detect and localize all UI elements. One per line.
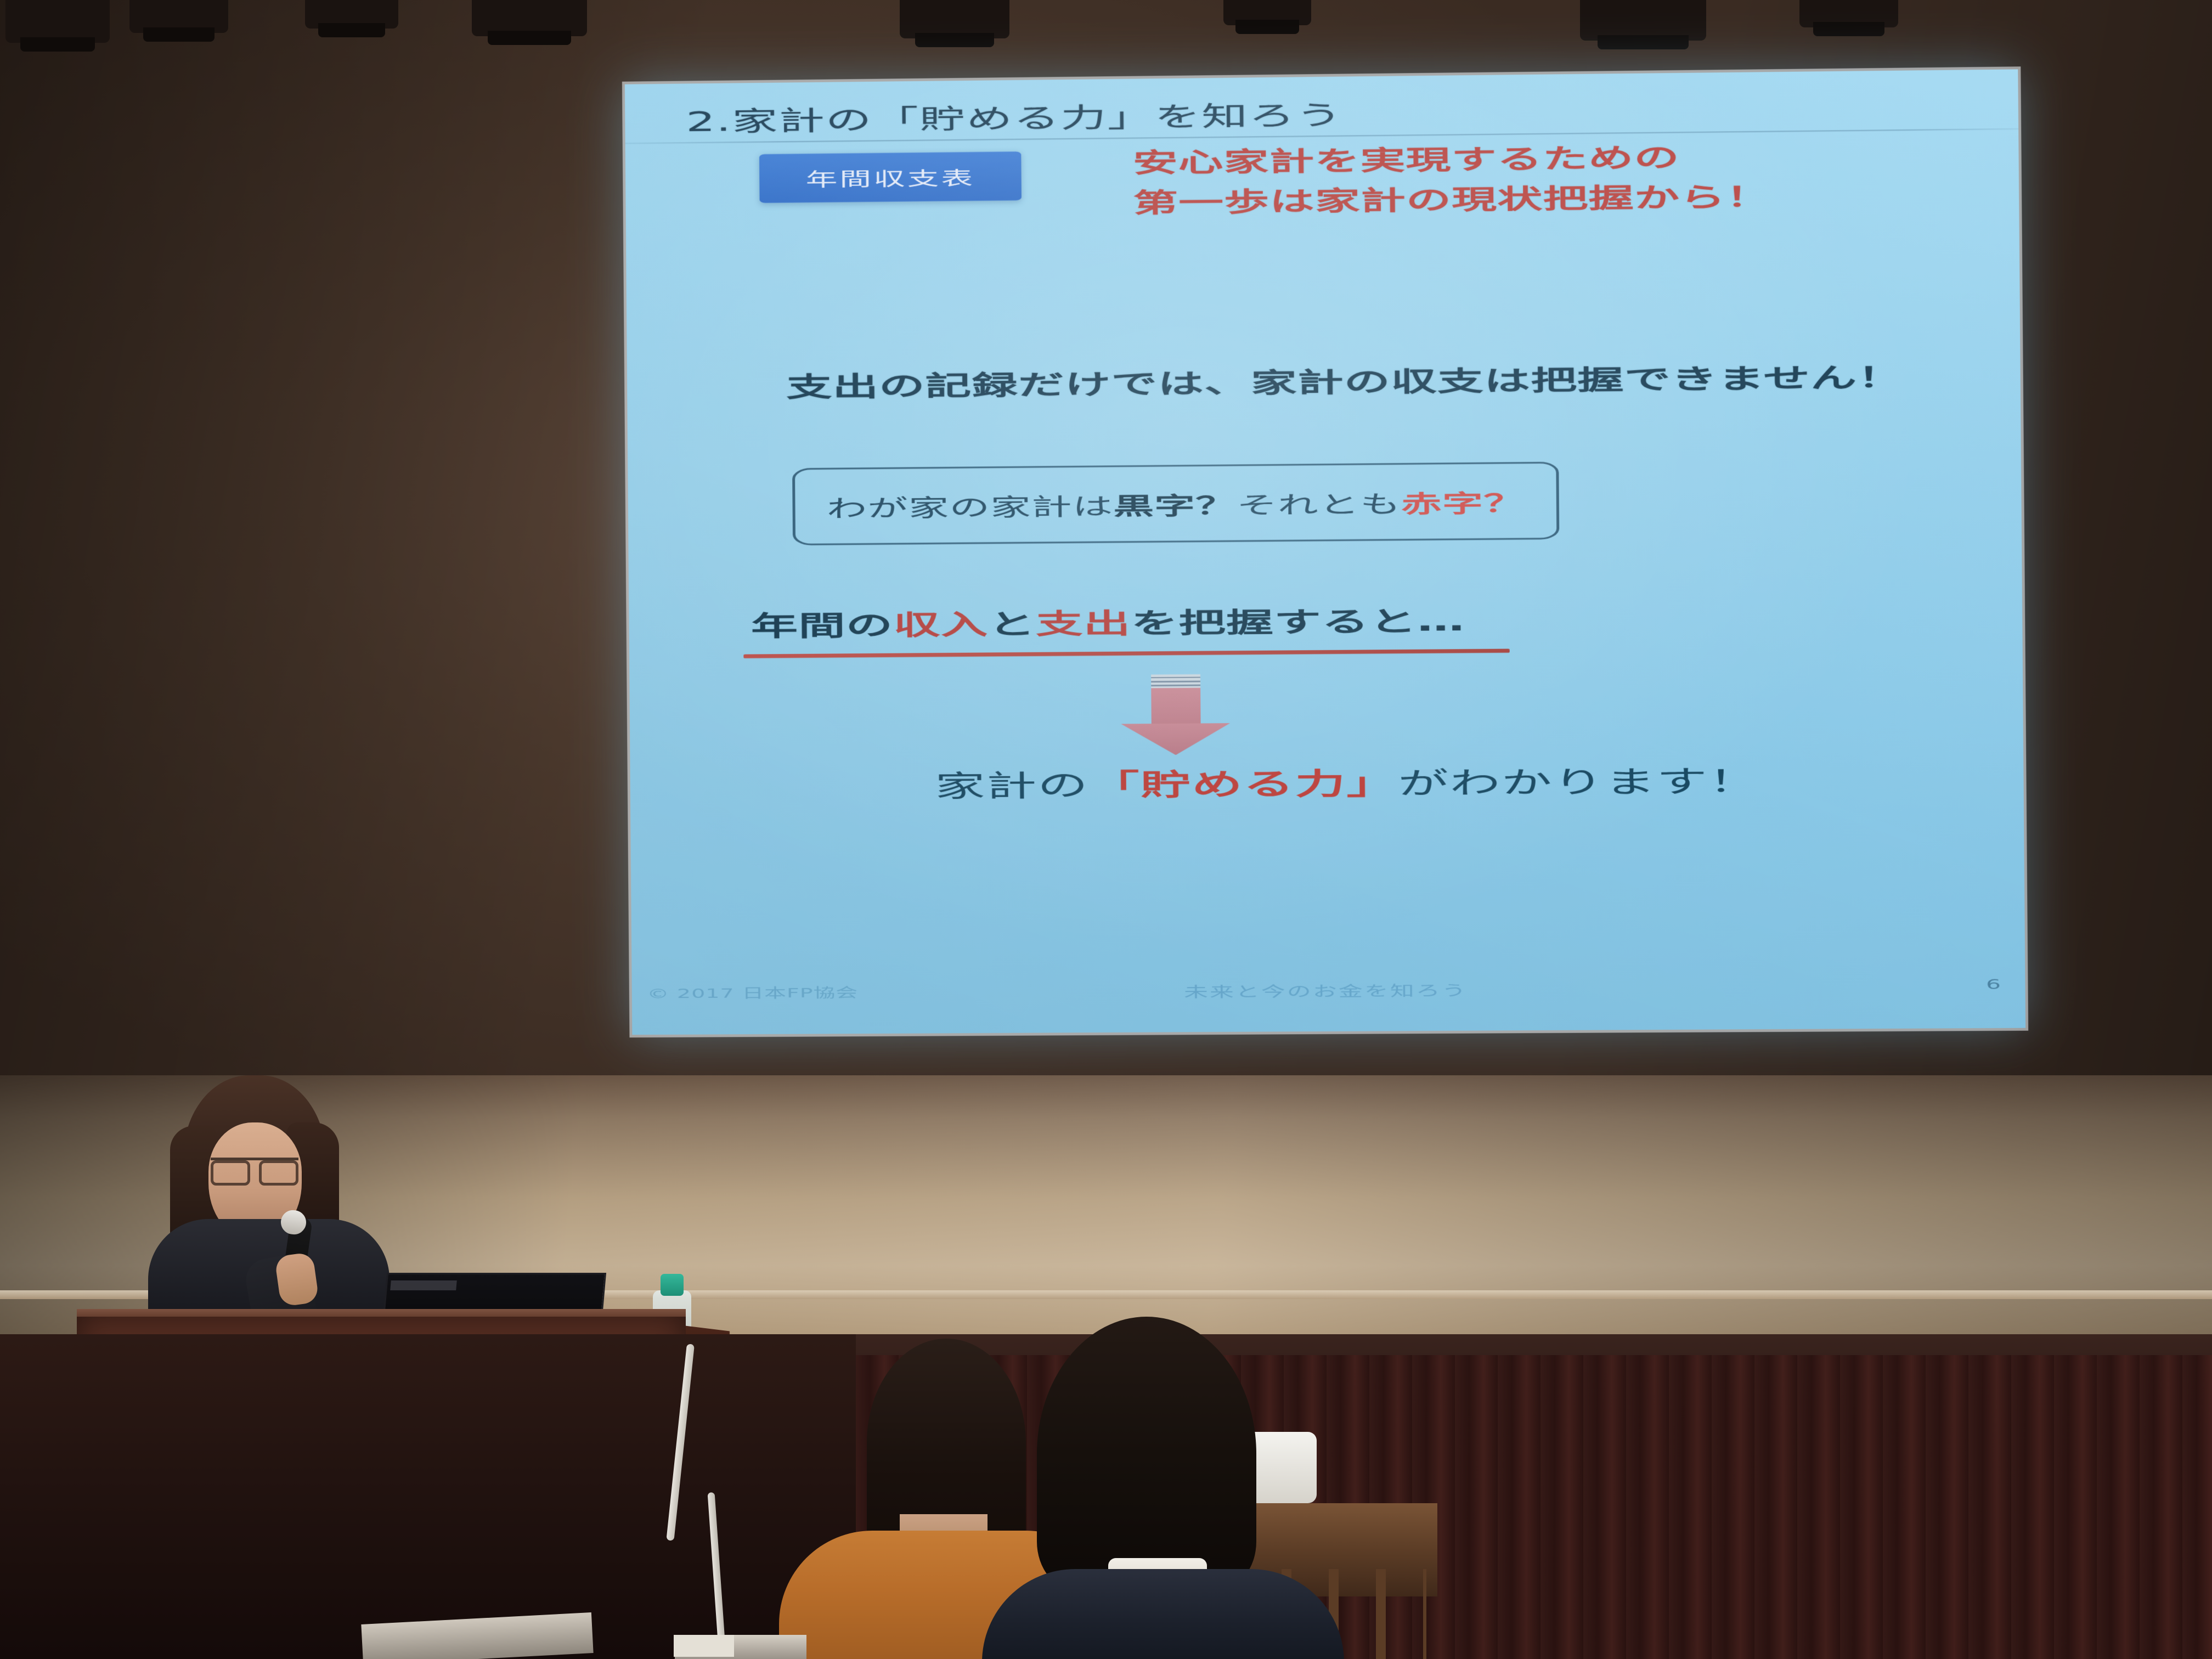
stage-light-icon (1580, 0, 1706, 41)
summary-part-3: を把握すると… (1131, 605, 1465, 640)
stage-light-icon (129, 0, 228, 33)
conclusion-line: 家計の「貯める力」がわかります！ (742, 757, 1955, 807)
stage-apron-shadow (0, 1334, 856, 1659)
summary-income-term: 収入 (893, 608, 989, 641)
red-headline: 安心家計を実現するための 第一歩は家計の現状把握から！ (1133, 137, 1772, 223)
summary-part-2: と (988, 608, 1036, 641)
arrow-head (1121, 723, 1231, 755)
laptop-bezel-strip (390, 1280, 457, 1290)
footer-page-number: 6 (1986, 976, 2001, 992)
stage-light-icon (900, 0, 1009, 38)
dark-headline: 支出の記録だけでは、家計の収支は把握できません！ (739, 355, 1952, 405)
badge-label: 年間収支表 (805, 163, 975, 191)
summary-underline (743, 649, 1509, 658)
red-headline-line-1: 安心家計を実現するための (1133, 137, 1771, 183)
glasses-icon (211, 1158, 298, 1180)
summary-line: 年間の収入と支出を把握すると… (751, 598, 1465, 644)
conclusion-suffix: がわかります！ (1398, 764, 1760, 801)
stage-light-icon (1799, 0, 1898, 27)
annual-budget-badge: 年間収支表 (759, 151, 1022, 203)
stage-light-icon (5, 0, 110, 43)
arrow-stripe-cap (1151, 674, 1200, 688)
slide-title: 2.家計の「貯める力」を知ろう (686, 93, 1343, 139)
arrow-shaft (1151, 686, 1200, 725)
footer-center-title: 未来と今のお金を知ろう (632, 976, 2025, 1004)
summary-part-1: 年間の (751, 609, 894, 642)
slide-content: 2.家計の「貯める力」を知ろう 年間収支表 安心家計を実現するための 第一歩は家… (625, 69, 2025, 1035)
stage-light-icon (305, 0, 398, 29)
conclusion-prefix: 家計の (935, 769, 1089, 804)
question-prefix: わが家の家計は (827, 493, 1114, 523)
question-middle: それとも (1237, 490, 1401, 519)
water-bottle-cap (661, 1274, 684, 1296)
audience-member-2-hair (1037, 1317, 1256, 1591)
question-text: わが家の家計は黒字？それとも赤字？ (826, 483, 1525, 523)
presenter (170, 1075, 400, 1344)
audience-member-2-body (982, 1569, 1344, 1659)
question-red-term: 赤字？ (1401, 489, 1525, 517)
lecture-hall-scene: 2.家計の「貯める力」を知ろう 年間収支表 安心家計を実現するための 第一歩は家… (0, 0, 2212, 1659)
summary-expense-term: 支出 (1036, 607, 1131, 640)
down-arrow-icon (1120, 674, 1231, 755)
projected-slide: 2.家計の「貯める力」を知ろう 年間収支表 安心家計を実現するための 第一歩は家… (625, 69, 2025, 1035)
question-box: わが家の家計は黒字？それとも赤字？ (792, 462, 1559, 545)
red-headline-line-2: 第一歩は家計の現状把握から！ (1133, 177, 1771, 223)
conclusion-red-term: 「貯める力」 (1089, 767, 1398, 803)
stage-light-icon (472, 0, 587, 36)
question-black-term: 黒字？ (1113, 492, 1237, 520)
ceiling-light-truss (0, 0, 2212, 82)
desk-device (674, 1635, 734, 1657)
stage-light-icon (1223, 0, 1311, 25)
